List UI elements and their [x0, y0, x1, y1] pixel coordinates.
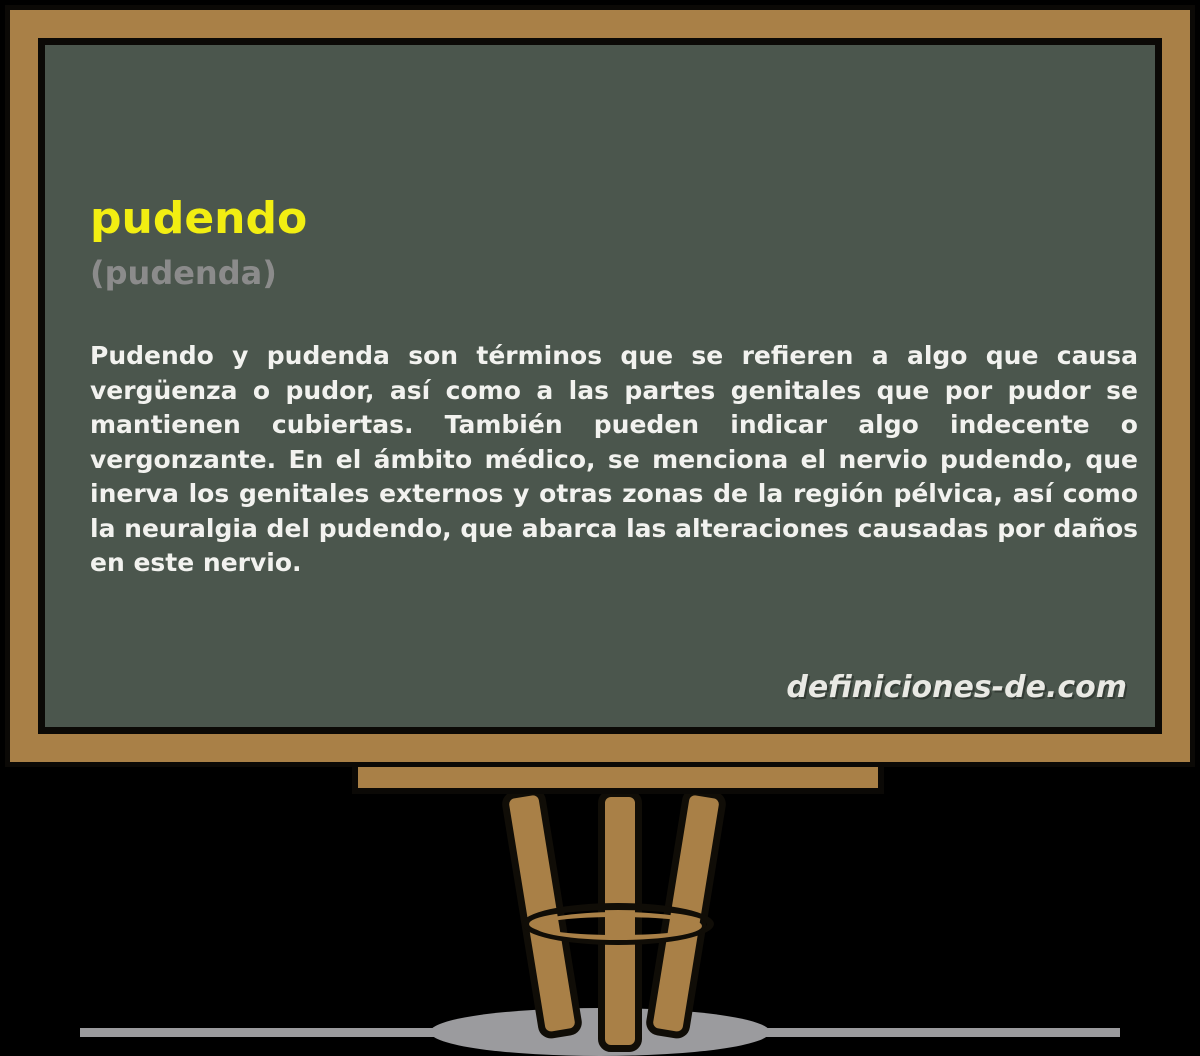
site-watermark: definiciones-de.com	[786, 670, 1127, 705]
chalkboard-illustration: pudendo (pudenda) Pudendo y pudenda son …	[0, 0, 1200, 1056]
chalkboard-surface: pudendo (pudenda) Pudendo y pudenda son …	[38, 38, 1162, 734]
page-title: pudendo	[90, 197, 307, 241]
chalkboard-content: pudendo (pudenda) Pudendo y pudenda son …	[45, 45, 1155, 727]
definition-text: Pudendo y pudenda son términos que se re…	[90, 339, 1138, 581]
easel-support-ring-inner	[534, 912, 702, 940]
chalkboard-frame: pudendo (pudenda) Pudendo y pudenda son …	[5, 5, 1195, 767]
alternate-form-label: (pudenda)	[90, 257, 277, 289]
